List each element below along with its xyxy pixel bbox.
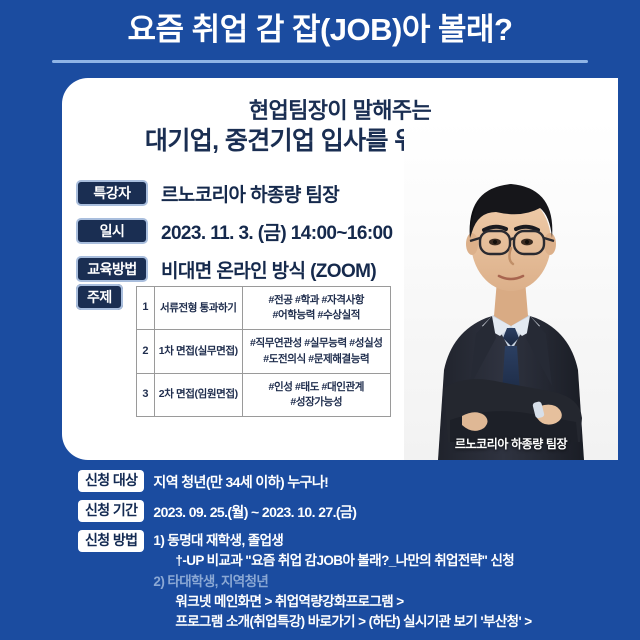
speaker-photo: 르노코리아 하종량 팀장 [404,120,618,460]
speaker-caption: 르노코리아 하종량 팀장 [404,435,618,452]
apply-value-period: 2023. 09. 25.(월) ~ 2023. 10. 27.(금) [153,500,356,522]
topic-row-2-tags-line-2: #도전의식 #문제해결능력 [263,353,369,365]
topic-table: 1 서류전형 통과하기 #전공 #학과 #자격사항 #어학능력 #수상실적 2 … [136,286,391,417]
info-value-speaker: 르노코리아 하종량 팀장 [161,180,339,207]
topic-row-1-tags: #전공 #학과 #자격사항 #어학능력 #수상실적 [242,287,390,330]
topic-row-1-stage: 서류전형 통과하기 [154,287,242,330]
topic-badge-wrap: 주제 [76,286,123,307]
apply-method-item-1: 1) 동명대 재학생, 졸업생 [153,531,531,551]
apply-method-item-1-detail: †-UP 비교과 "요즘 취업 감JOB아 볼래?_나만의 취업전략" 신청 [153,551,531,571]
apply-method-item-2-detail-2: 프로그램 소개(취업특강) 바로가기 > (하단) 실시기관 보기 '부산청' … [153,612,531,632]
table-row: 3 2차 면접(임원면접) #인성 #태도 #대인관계 #성장가능성 [136,373,390,416]
apply-section: 신청 대상 지역 청년(만 34세 이하) 누구나! 신청 기간 2023. 0… [0,470,640,640]
info-value-method: 비대면 온라인 방식 (ZOOM) [161,256,376,283]
table-row: 2 1차 면접(실무면접) #직무연관성 #실무능력 #성실성 #도전의식 #문… [136,330,390,373]
table-row: 1 서류전형 통과하기 #전공 #학과 #자격사항 #어학능력 #수상실적 [136,287,390,330]
topic-row-2-tags-line-1: #직무연관성 #실무능력 #성실성 [250,337,382,349]
title-divider [52,60,588,63]
main-card: 현업팀장이 말해주는 대기업, 중견기업 입사를 위한 취업전략 특강자 르노코… [62,78,618,460]
info-label-method: 교육방법 [76,256,148,282]
page-title: 요즘 취업 감 잡(JOB)아 볼래? [0,0,640,52]
apply-row-period: 신청 기간 2023. 09. 25.(월) ~ 2023. 10. 27.(금… [0,500,640,522]
topic-row-2-no: 2 [136,330,154,373]
topic-block: 주제 1 서류전형 통과하기 #전공 #학과 #자격사항 #어학능력 #수상실적… [76,286,391,417]
topic-row-3-tags-line-2: #성장가능성 [290,396,342,408]
topic-row-2-tags: #직무연관성 #실무능력 #성실성 #도전의식 #문제해결능력 [242,330,390,373]
apply-label-target: 신청 대상 [78,470,144,492]
topic-row-1-tags-line-2: #어학능력 #수상실적 [273,309,360,321]
apply-label-period: 신청 기간 [78,500,144,522]
topic-row-2-stage: 1차 면접(실무면접) [154,330,242,373]
topic-row-3-tags: #인성 #태도 #대인관계 #성장가능성 [242,373,390,416]
apply-method-item-2-detail-1: 워크넷 메인화면 > 취업역량강화프로그램 > [153,592,531,612]
topic-row-3-tags-line-1: #인성 #태도 #대인관계 [269,381,364,393]
topic-row-1-tags-line-1: #전공 #학과 #자격사항 [269,294,364,306]
speaker-portrait-image [404,120,618,460]
info-value-datetime: 2023. 11. 3. (금) 14:00~16:00 [161,218,393,245]
apply-label-method: 신청 방법 [78,530,144,552]
apply-value-target: 지역 청년(만 34세 이하) 누구나! [153,470,328,492]
apply-method-lines: 1) 동명대 재학생, 졸업생 †-UP 비교과 "요즘 취업 감JOB아 볼래… [153,530,531,632]
topic-row-3-no: 3 [136,373,154,416]
apply-method-item-2: 2) 타대학생, 지역청년 [153,572,531,592]
topic-row-3-stage: 2차 면접(임원면접) [154,373,242,416]
info-label-topic: 주제 [76,284,123,310]
topic-row-1-no: 1 [136,287,154,330]
info-label-datetime: 일시 [76,218,148,244]
info-label-speaker: 특강자 [76,180,148,206]
apply-row-target: 신청 대상 지역 청년(만 34세 이하) 누구나! [0,470,640,492]
apply-row-method: 신청 방법 1) 동명대 재학생, 졸업생 †-UP 비교과 "요즘 취업 감J… [0,530,640,632]
